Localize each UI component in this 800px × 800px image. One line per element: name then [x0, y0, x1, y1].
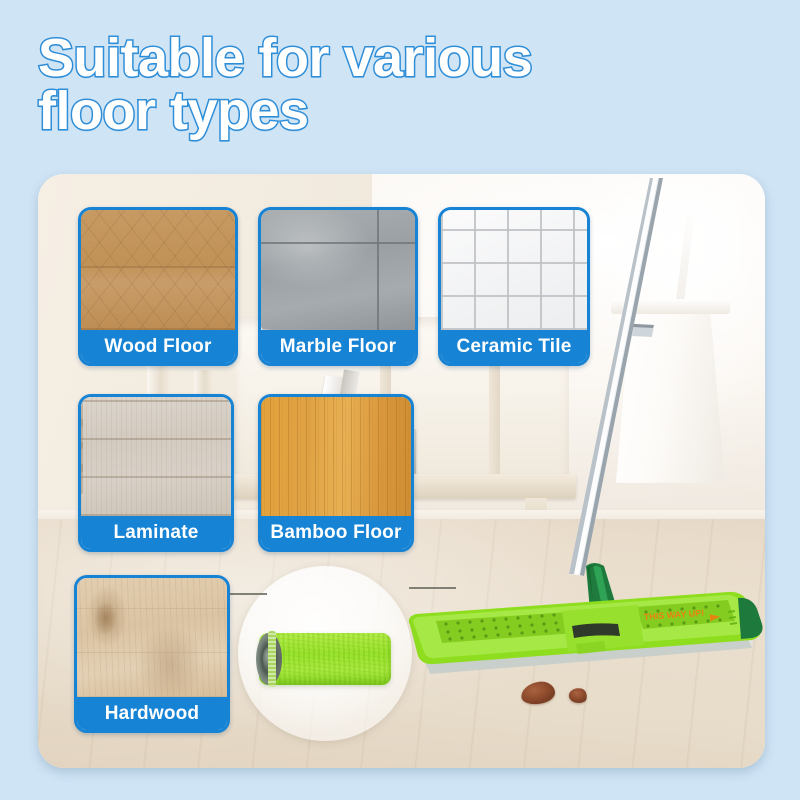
page-title: Suitable for various floor types — [38, 32, 738, 138]
laminate-texture — [81, 397, 231, 516]
marble-floor-texture — [261, 210, 415, 330]
infographic-canvas: Suitable for various floor types — [0, 0, 800, 800]
wood-floor-texture — [81, 210, 235, 330]
bamboo-floor-texture — [261, 397, 411, 516]
floor-type-card-marble-floor[interactable]: Marble Floor — [258, 207, 418, 366]
floor-type-label: Bamboo Floor — [261, 516, 411, 549]
mop-pad-edge-fringe — [268, 631, 277, 687]
floor-type-card-wood-floor[interactable]: Wood Floor — [78, 207, 238, 366]
floor-type-label: Marble Floor — [261, 330, 415, 363]
title-line-1: Suitable for various — [38, 28, 532, 88]
floor-type-label: Wood Floor — [81, 330, 235, 363]
floor-type-card-laminate[interactable]: Laminate — [78, 394, 234, 552]
ceramic-tile-texture — [441, 210, 587, 330]
floor-type-card-bamboo-floor[interactable]: Bamboo Floor — [258, 394, 414, 552]
product-photo-panel: THIS WAY UP! — [38, 174, 765, 768]
floor-type-label: Hardwood — [77, 697, 227, 730]
floor-type-card-ceramic-tile[interactable]: Ceramic Tile — [438, 207, 590, 366]
room-scene-photo: THIS WAY UP! — [38, 174, 765, 768]
callout-leader-line — [409, 587, 456, 589]
hardwood-texture — [77, 578, 227, 697]
floor-type-label: Laminate — [81, 516, 231, 549]
planter-rim — [611, 299, 730, 314]
planter-pot — [616, 305, 725, 483]
floor-type-label: Ceramic Tile — [441, 330, 587, 363]
title-line-2: floor types — [38, 85, 738, 138]
floor-type-card-hardwood[interactable]: Hardwood — [74, 575, 230, 733]
